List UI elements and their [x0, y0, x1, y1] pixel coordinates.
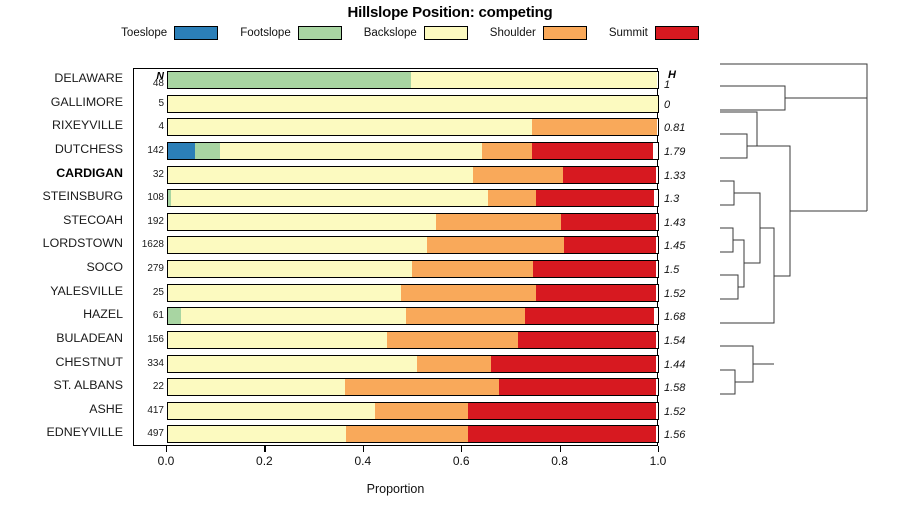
- y-axis-label-ashe: ASHE: [0, 402, 123, 416]
- y-axis-label-rixeyville: RIXEYVILLE: [0, 118, 123, 132]
- y-axis-labels: DELAWAREGALLIMORERIXEYVILLEDUTCHESSCARDI…: [0, 68, 131, 446]
- stacked-bar[interactable]: [167, 213, 659, 231]
- bar-segment-shoulder[interactable]: [387, 332, 520, 348]
- bar-segment-shoulder[interactable]: [412, 261, 535, 277]
- dendrogram-svg: [700, 62, 900, 452]
- n-value: 22: [134, 381, 164, 392]
- h-value: 0: [664, 99, 670, 111]
- x-axis-tick-label: 0.6: [441, 454, 481, 468]
- stacked-bar[interactable]: [167, 118, 659, 136]
- bar-segment-backslope[interactable]: [168, 285, 402, 301]
- dendrogram: [700, 62, 900, 452]
- h-value: 1.5: [664, 264, 679, 276]
- bar-segment-shoulder[interactable]: [345, 379, 500, 395]
- bar-segment-shoulder[interactable]: [482, 143, 533, 159]
- bar-segment-summit[interactable]: [564, 237, 656, 253]
- bar-segment-summit[interactable]: [536, 190, 655, 206]
- stacked-bar[interactable]: [167, 425, 659, 443]
- stacked-bar[interactable]: [167, 284, 659, 302]
- bar-segment-summit[interactable]: [518, 332, 655, 348]
- h-value: 1: [664, 79, 670, 91]
- h-value: 1.79: [664, 146, 685, 158]
- legend-entry-toeslope[interactable]: Toeslope: [121, 26, 218, 40]
- x-axis: 0.00.20.40.60.81.0: [133, 446, 658, 447]
- bar-segment-backslope[interactable]: [168, 332, 388, 348]
- bar-segment-summit[interactable]: [563, 167, 656, 183]
- h-value: 1.58: [664, 382, 685, 394]
- bar-segment-shoulder[interactable]: [406, 308, 527, 324]
- y-axis-label-dutchess: DUTCHESS: [0, 142, 123, 156]
- stacked-bar[interactable]: [167, 95, 659, 113]
- stacked-bar[interactable]: [167, 355, 659, 373]
- h-value: 1.43: [664, 217, 685, 229]
- legend-entry-footslope[interactable]: Footslope: [240, 26, 342, 40]
- n-value: 48: [134, 78, 164, 89]
- x-axis-title: Proportion: [133, 482, 658, 496]
- bar-segment-backslope[interactable]: [220, 143, 483, 159]
- bar-segment-summit[interactable]: [468, 426, 655, 442]
- n-value: 25: [134, 287, 164, 298]
- bar-rows: N485414232108192162827925611563342241749…: [134, 69, 659, 447]
- bar-row: 32: [134, 164, 659, 186]
- n-value: 5: [134, 98, 164, 109]
- bar-segment-backslope[interactable]: [411, 72, 657, 88]
- y-axis-label-hazel: HAZEL: [0, 307, 123, 321]
- bar-segment-summit[interactable]: [532, 143, 654, 159]
- legend-swatch-summit: [655, 26, 699, 40]
- bar-segment-shoulder[interactable]: [401, 285, 537, 301]
- bar-segment-toeslope[interactable]: [168, 143, 196, 159]
- bar-segment-shoulder[interactable]: [417, 356, 493, 372]
- bar-segment-backslope[interactable]: [168, 261, 413, 277]
- stacked-bar[interactable]: [167, 142, 659, 160]
- y-axis-label-stecoah: STECOAH: [0, 213, 123, 227]
- x-axis-tick-label: 0.8: [540, 454, 580, 468]
- n-value: 4: [134, 121, 164, 132]
- y-axis-label-gallimore: GALLIMORE: [0, 95, 123, 109]
- bar-segment-summit[interactable]: [536, 285, 656, 301]
- y-axis-label-st-albans: ST. ALBANS: [0, 378, 123, 392]
- bar-segment-shoulder[interactable]: [532, 119, 656, 135]
- bar-row: 497: [134, 423, 659, 445]
- n-value: 156: [134, 334, 164, 345]
- bar-segment-shoulder[interactable]: [473, 167, 565, 183]
- n-value: 279: [134, 263, 164, 274]
- bar-row: 61: [134, 305, 659, 327]
- legend-label: Toeslope: [121, 27, 167, 39]
- x-axis-tick: [461, 446, 462, 452]
- bar-row: 417: [134, 400, 659, 422]
- x-axis-tick: [264, 446, 265, 452]
- bar-segment-backslope[interactable]: [181, 308, 407, 324]
- y-axis-label-steinsburg: STEINSBURG: [0, 189, 123, 203]
- legend: ToeslopeFootslopeBackslopeShoulderSummit: [0, 26, 820, 40]
- stacked-bar[interactable]: [167, 166, 659, 184]
- n-value: 108: [134, 192, 164, 203]
- x-axis-tick: [363, 446, 364, 452]
- n-value: 497: [134, 428, 164, 439]
- legend-label: Summit: [609, 27, 648, 39]
- h-value: 1.3: [664, 193, 679, 205]
- bar-segment-backslope[interactable]: [168, 96, 658, 112]
- x-axis-tick: [560, 446, 561, 452]
- x-axis-tick: [658, 446, 659, 452]
- bar-row: 25: [134, 282, 659, 304]
- y-axis-label-lordstown: LORDSTOWN: [0, 236, 123, 250]
- bar-segment-backslope[interactable]: [168, 119, 534, 135]
- n-value: 417: [134, 405, 164, 416]
- y-axis-label-soco: SOCO: [0, 260, 123, 274]
- y-axis-label-yalesville: YALESVILLE: [0, 284, 123, 298]
- bar-segment-footslope[interactable]: [195, 143, 222, 159]
- stacked-bar[interactable]: [167, 71, 659, 89]
- stacked-bar-panel: N485414232108192162827925611563342241749…: [133, 68, 658, 446]
- stacked-bar[interactable]: [167, 307, 659, 325]
- bar-segment-summit[interactable]: [525, 308, 654, 324]
- x-axis-tick-label: 1.0: [638, 454, 678, 468]
- legend-swatch-footslope: [298, 26, 342, 40]
- legend-swatch-toeslope: [174, 26, 218, 40]
- n-value: 142: [134, 145, 164, 156]
- bar-segment-backslope[interactable]: [168, 237, 428, 253]
- n-value: 334: [134, 358, 164, 369]
- n-value: 192: [134, 216, 164, 227]
- n-value: 1628: [134, 239, 164, 250]
- h-value: 1.54: [664, 335, 685, 347]
- bar-row: 22: [134, 376, 659, 398]
- legend-swatch-shoulder: [543, 26, 587, 40]
- y-axis-label-buladean: BULADEAN: [0, 331, 123, 345]
- bar-segment-backslope[interactable]: [171, 190, 489, 206]
- bar-row: 142: [134, 140, 659, 162]
- bar-row: 108: [134, 187, 659, 209]
- x-axis-tick-label: 0.4: [343, 454, 383, 468]
- bar-row: 279: [134, 258, 659, 280]
- bar-segment-shoulder[interactable]: [375, 403, 470, 419]
- h-value: 0.81: [664, 122, 685, 134]
- h-value: 1.52: [664, 406, 685, 418]
- h-value: 1.33: [664, 170, 685, 182]
- bar-segment-summit[interactable]: [561, 214, 656, 230]
- page-title: Hillslope Position: competing: [0, 4, 900, 21]
- y-axis-label-chestnut: CHESTNUT: [0, 355, 123, 369]
- n-value: 32: [134, 169, 164, 180]
- h-value: 1.68: [664, 311, 685, 323]
- bar-segment-backslope[interactable]: [168, 403, 376, 419]
- legend-entry-shoulder[interactable]: Shoulder: [490, 26, 587, 40]
- bar-row: 334: [134, 353, 659, 375]
- y-axis-label-cardigan: CARDIGAN: [0, 166, 123, 180]
- legend-label: Backslope: [364, 27, 417, 39]
- legend-entry-summit[interactable]: Summit: [609, 26, 699, 40]
- legend-label: Shoulder: [490, 27, 536, 39]
- stacked-bar[interactable]: [167, 378, 659, 396]
- bar-segment-backslope[interactable]: [168, 426, 347, 442]
- bar-segment-shoulder[interactable]: [427, 237, 566, 253]
- stacked-bar[interactable]: [167, 331, 659, 349]
- stacked-bar[interactable]: [167, 189, 659, 207]
- n-value: 61: [134, 310, 164, 321]
- bar-row: 4: [134, 116, 659, 138]
- bar-segment-summit[interactable]: [491, 356, 655, 372]
- h-value: 1.56: [664, 429, 685, 441]
- x-axis-tick-label: 0.2: [244, 454, 284, 468]
- stacked-bar[interactable]: [167, 260, 659, 278]
- bar-segment-summit[interactable]: [499, 379, 655, 395]
- legend-swatch-backslope: [424, 26, 468, 40]
- x-axis-tick-label: 0.0: [146, 454, 186, 468]
- x-axis-tick: [166, 446, 167, 452]
- bar-row: 1628: [134, 234, 659, 256]
- legend-entry-backslope[interactable]: Backslope: [364, 26, 468, 40]
- bar-row: 156: [134, 329, 659, 351]
- bar-segment-backslope[interactable]: [168, 214, 437, 230]
- stacked-bar[interactable]: [167, 402, 659, 420]
- h-value: 1.45: [664, 240, 685, 252]
- h-value: 1.44: [664, 359, 685, 371]
- bar-segment-backslope[interactable]: [168, 167, 474, 183]
- h-value: 1.52: [664, 288, 685, 300]
- bar-segment-backslope[interactable]: [168, 356, 418, 372]
- y-axis-label-edneyville: EDNEYVILLE: [0, 425, 123, 439]
- bar-segment-shoulder[interactable]: [436, 214, 562, 230]
- legend-label: Footslope: [240, 27, 291, 39]
- stacked-bar[interactable]: [167, 236, 659, 254]
- bar-segment-shoulder[interactable]: [346, 426, 469, 442]
- bar-segment-backslope[interactable]: [168, 379, 346, 395]
- bar-segment-footslope[interactable]: [168, 72, 412, 88]
- bar-row: 5: [134, 93, 659, 115]
- bar-row: 48: [134, 69, 659, 91]
- bar-segment-shoulder[interactable]: [488, 190, 537, 206]
- y-axis-label-delaware: DELAWARE: [0, 71, 123, 85]
- bar-segment-summit[interactable]: [468, 403, 655, 419]
- bar-row: 192: [134, 211, 659, 233]
- bar-segment-summit[interactable]: [533, 261, 656, 277]
